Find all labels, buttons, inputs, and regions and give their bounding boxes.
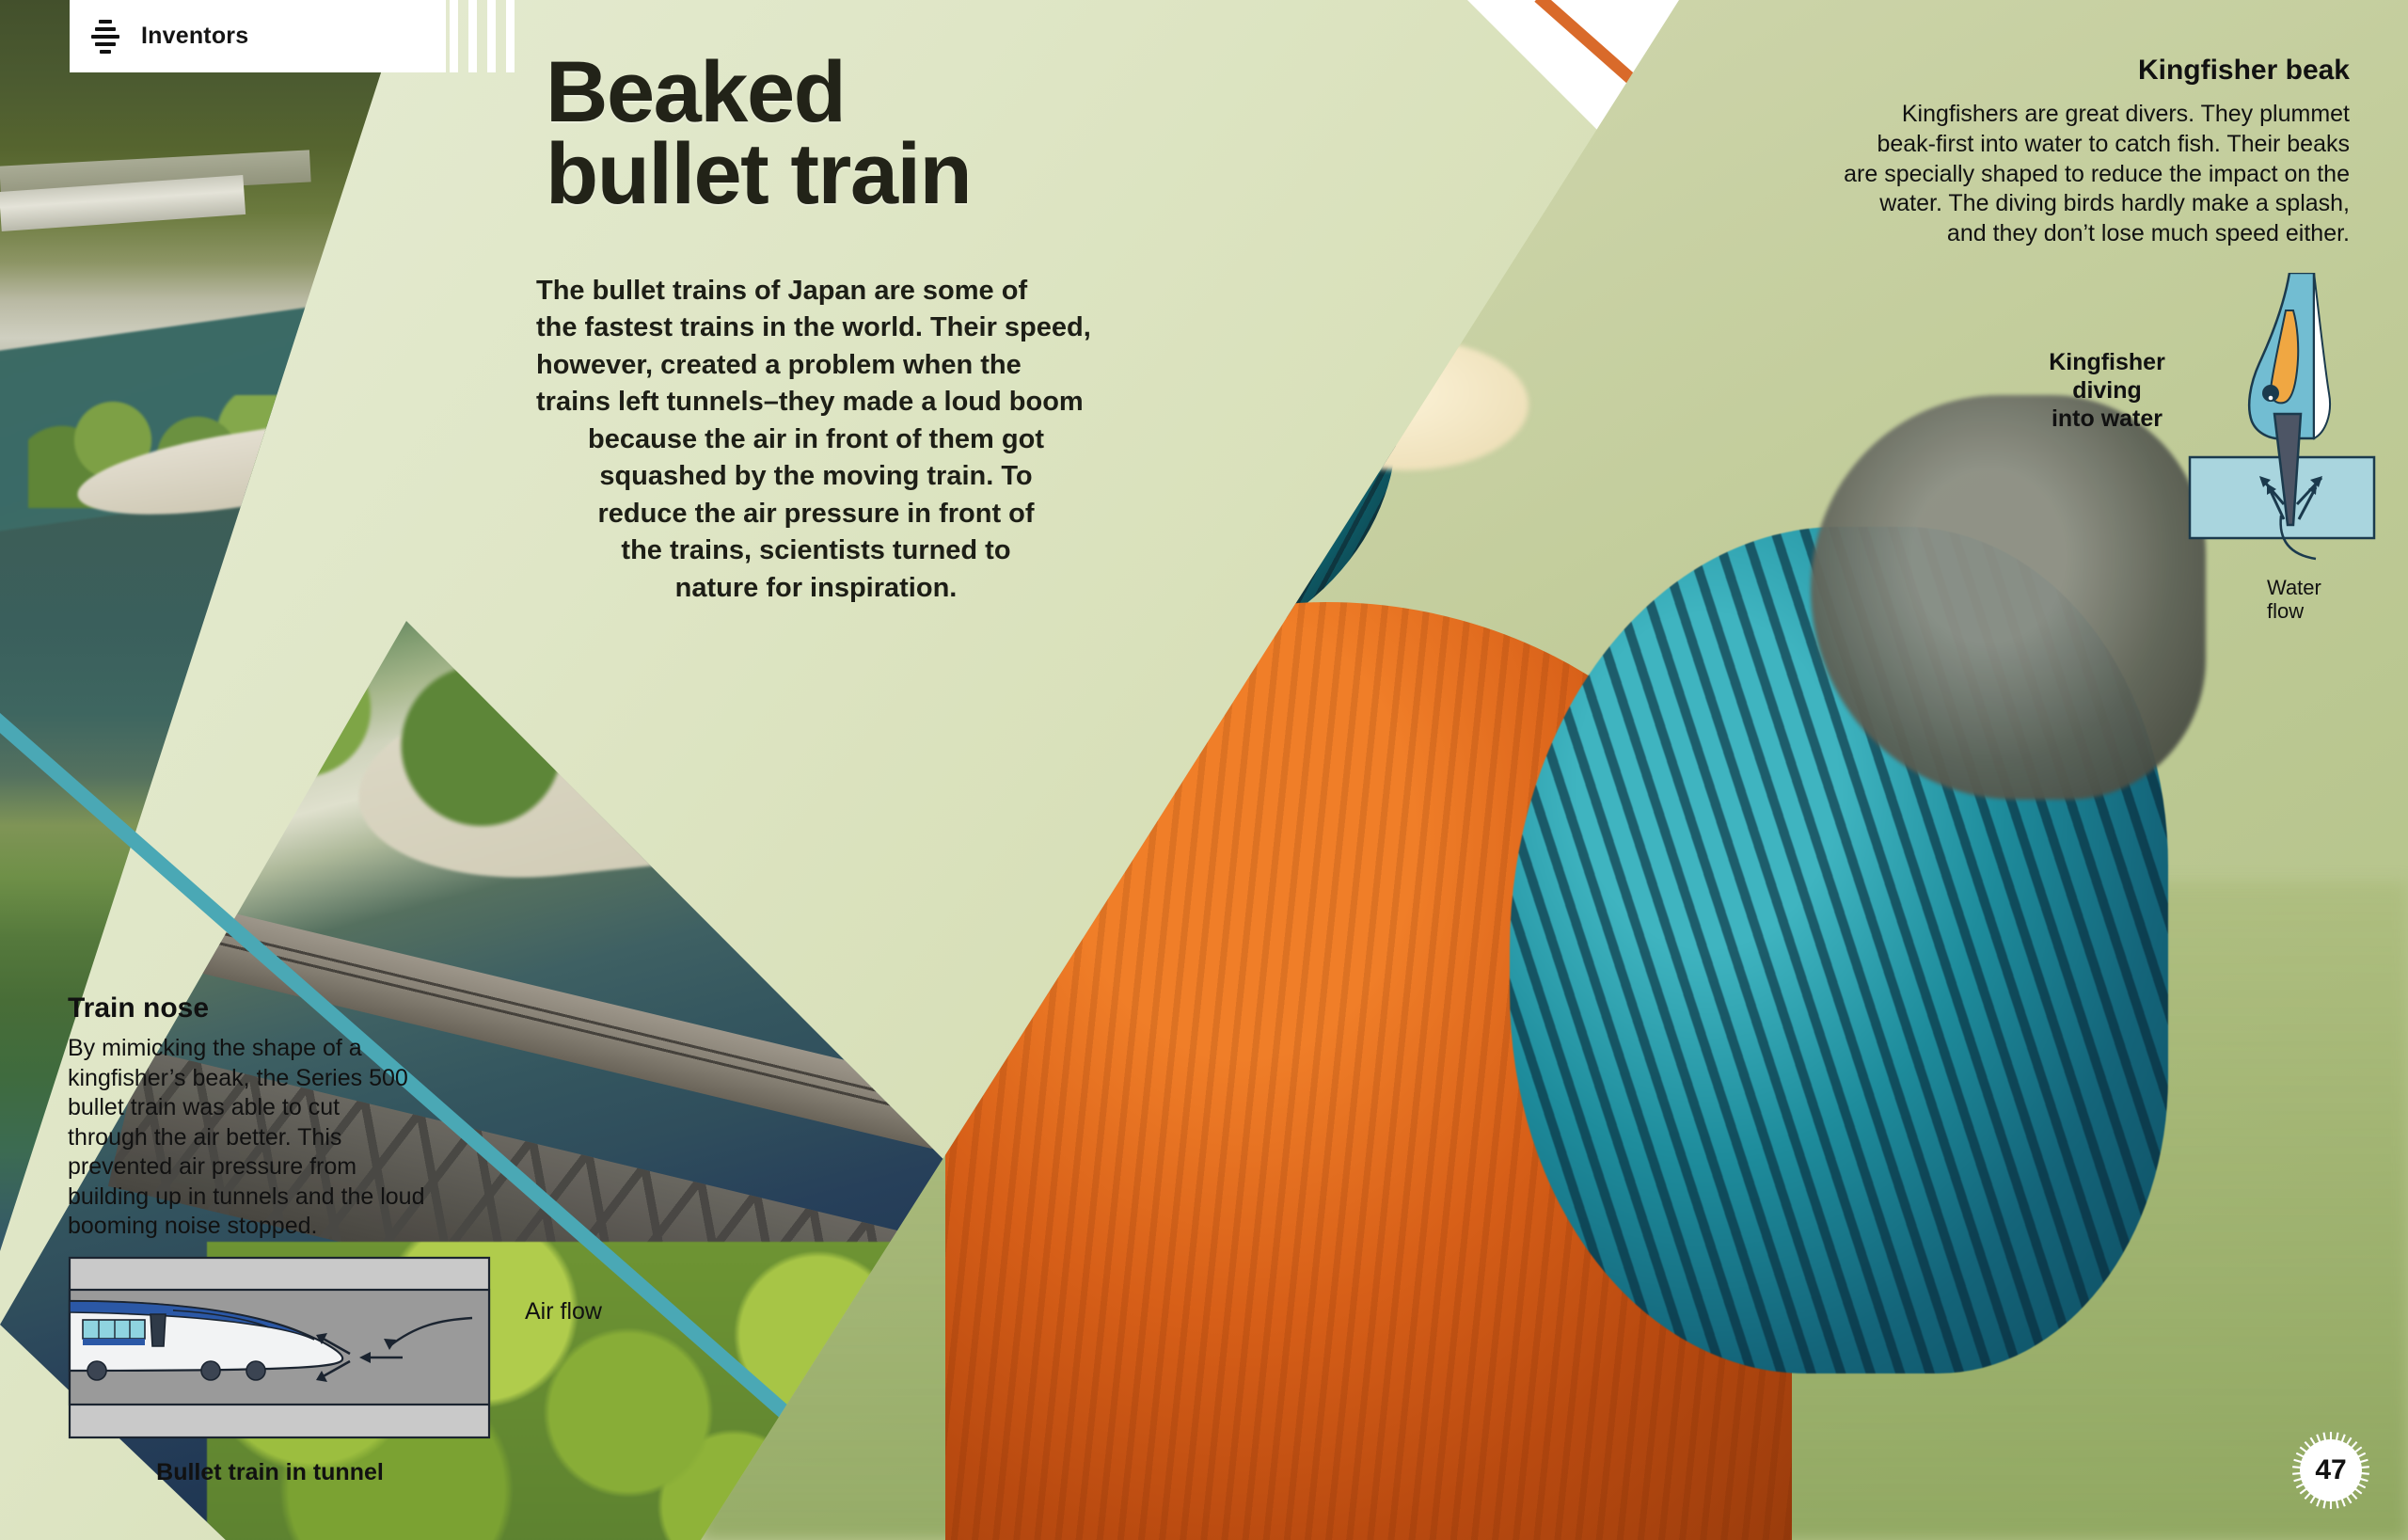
water-flow-line-1: Water — [2267, 576, 2321, 599]
page-number-text: 47 — [2315, 1454, 2346, 1486]
kingfisher-diving-diagram: Kingfisher diving into water — [2032, 329, 2389, 640]
intro-line-8: the trains, scientists turned to — [536, 532, 1096, 569]
kingfisher-beak-heading: Kingfisher beak — [1842, 55, 2350, 87]
diving-diagram-svg — [2173, 273, 2389, 583]
intro-line-4: trains left tunnels–they made a loud boo… — [536, 384, 1096, 421]
train-nose-heading: Train nose — [68, 992, 425, 1024]
tree-rings-icon — [90, 18, 120, 56]
tab-bar-2 — [468, 0, 477, 72]
intro-paragraph: The bullet trains of Japan are some of t… — [536, 273, 1096, 607]
diving-caption-line-1: Kingfisher — [2049, 349, 2165, 375]
airflow-label: Air flow — [525, 1298, 602, 1326]
intro-line-9: nature for inspiration. — [536, 570, 1096, 607]
diving-diagram-caption: Kingfisher diving into water — [2022, 348, 2192, 433]
page-title: Beaked bullet train — [546, 52, 1129, 216]
tab-bar-decoration — [450, 0, 525, 72]
bullet-train-tunnel-diagram: Bullet train in tunnel — [68, 1256, 538, 1486]
intro-line-5: because the air in front of them got — [536, 421, 1096, 458]
intro-line-6: squashed by the moving train. To — [536, 458, 1096, 495]
diving-caption-line-3: into water — [2052, 405, 2162, 432]
intro-line-3: however, created a problem when the — [536, 347, 1096, 384]
train-nose-body: By mimicking the shape of a kingfisher’s… — [68, 1034, 425, 1242]
intro-line-1: The bullet trains of Japan are some of — [536, 273, 1096, 310]
tunnel-diagram-svg — [68, 1256, 491, 1439]
train-door — [150, 1314, 166, 1346]
intro-line-7: reduce the air pressure in front of — [536, 496, 1096, 532]
diving-caption-line-2: diving — [2072, 377, 2142, 404]
tab-bar-3 — [487, 0, 496, 72]
water-flow-line-2: flow — [2267, 599, 2304, 623]
train-nose-section: Train nose By mimicking the shape of a k… — [68, 992, 425, 1242]
page-title-line-2: bullet train — [546, 126, 971, 222]
tab-bar-4 — [506, 0, 515, 72]
eye-glint — [2269, 396, 2273, 401]
train-side-stripe — [83, 1339, 145, 1345]
water-flow-label: Water flow — [2267, 576, 2380, 624]
kingfisher-beak-section: Kingfisher beak Kingfishers are great di… — [1842, 55, 2350, 249]
intro-line-2: the fastest trains in the world. Their s… — [536, 310, 1096, 346]
page-number-badge: 47 — [2289, 1429, 2372, 1512]
spread-page: Inventors Beaked bullet train The bullet… — [0, 0, 2408, 1540]
section-tab[interactable]: Inventors — [70, 0, 446, 72]
tab-bar-1 — [450, 0, 458, 72]
head-back — [2314, 273, 2330, 438]
train-windows — [83, 1320, 145, 1339]
tunnel-diagram-caption: Bullet train in tunnel — [68, 1459, 472, 1486]
section-tab-label: Inventors — [141, 23, 248, 50]
kingfisher-beak-body: Kingfishers are great divers. They plumm… — [1842, 100, 2350, 249]
